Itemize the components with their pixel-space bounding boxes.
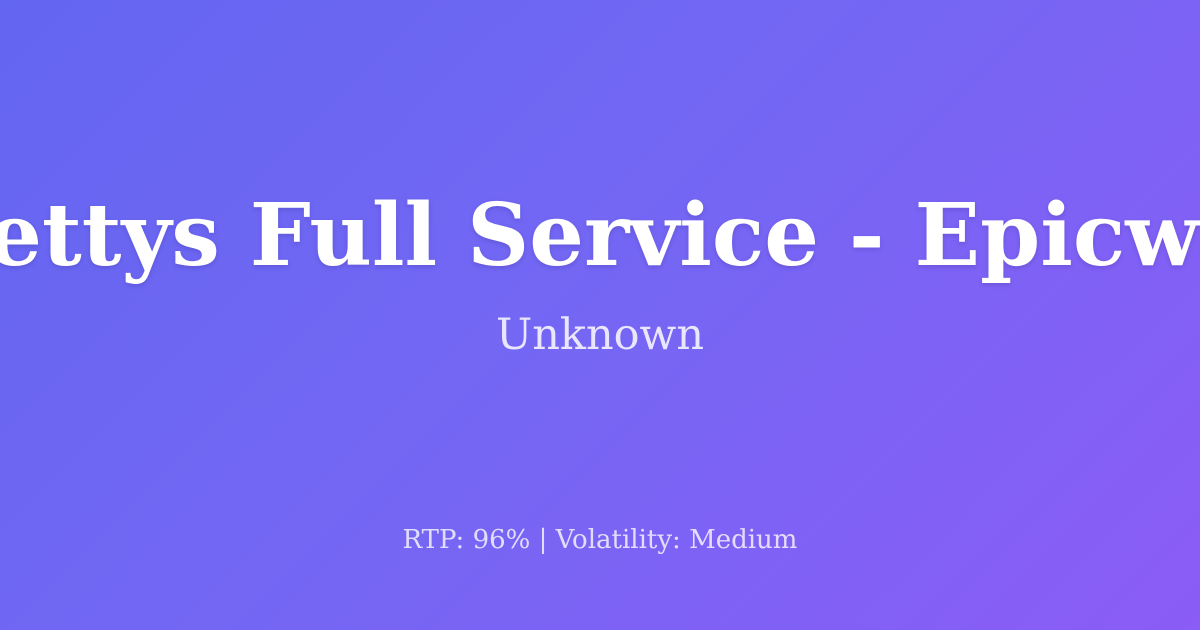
title-group: F 0 Bettys Full Service - Epicways Unkno…	[0, 0, 1200, 590]
og-share-card: F 0 Bettys Full Service - Epicways Unkno…	[0, 0, 1200, 630]
game-provider-subtitle: Unknown	[496, 312, 704, 359]
game-meta-line: RTP: 96% | Volatility: Medium	[0, 525, 1200, 556]
game-title-inner: F 0 Bettys Full Service - Epicways	[0, 191, 1200, 281]
game-title-text: Bettys Full Service - Epicways	[0, 191, 1200, 281]
game-title: F 0 Bettys Full Service - Epicways	[0, 191, 1200, 281]
